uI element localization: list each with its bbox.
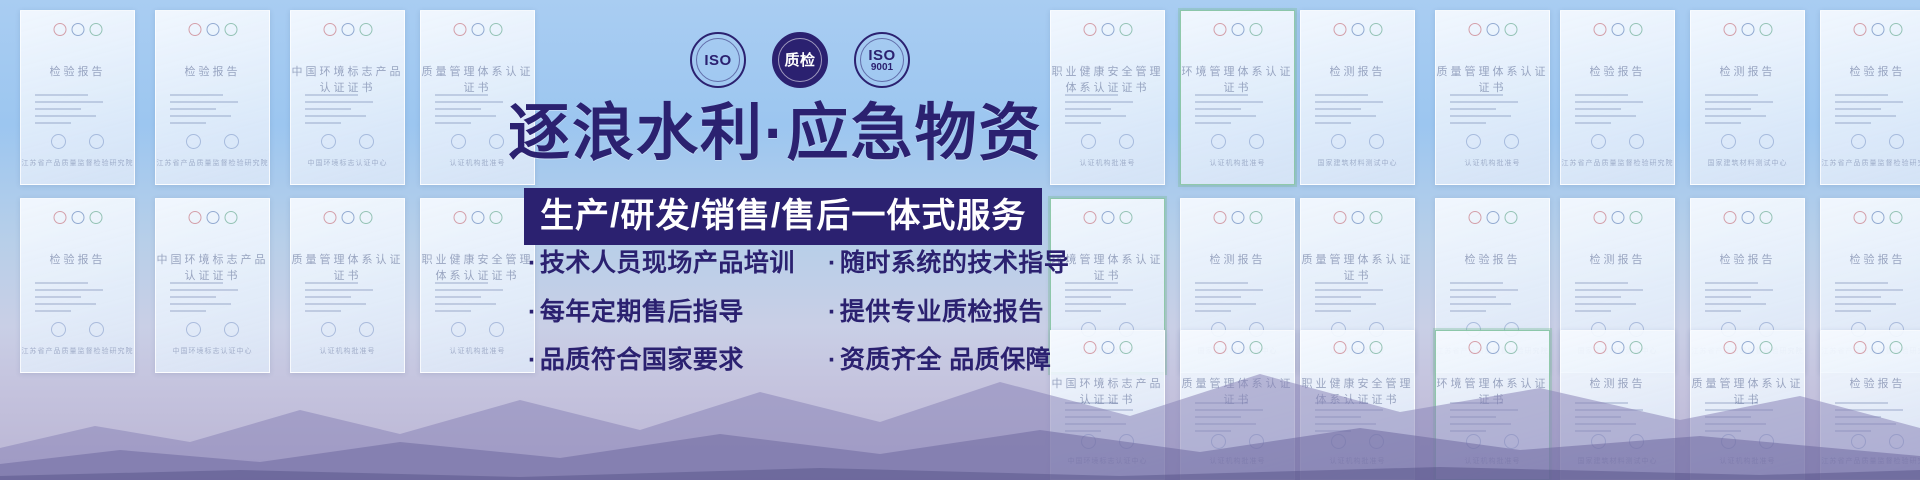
feature-list: ·技术人员现场产品培训·随时系统的技术指导·每年定期售后指导·提供专业质检报告·…: [528, 250, 1069, 375]
feature-item: ·品质符合国家要求: [528, 347, 806, 375]
bullet-dot-icon: ·: [528, 250, 537, 278]
bullet-dot-icon: ·: [528, 347, 537, 375]
feature-item: ·随时系统的技术指导: [828, 250, 1069, 278]
feature-item-label: 品质符合国家要求: [540, 347, 744, 375]
promo-banner: 检验报告江苏省产品质量监督检验研究院检验报告江苏省产品质量监督检验研究院中国环境…: [0, 0, 1920, 480]
feature-item-label: 资质齐全 品质保障: [840, 347, 1051, 375]
feature-item: ·提供专业质检报告: [828, 299, 1069, 327]
feature-item-label: 技术人员现场产品培训: [540, 250, 795, 278]
feature-item: ·每年定期售后指导: [528, 299, 806, 327]
bullet-dot-icon: ·: [528, 299, 537, 327]
bullet-dot-icon: ·: [828, 250, 837, 278]
feature-item: ·技术人员现场产品培训: [528, 250, 806, 278]
feature-item-label: 每年定期售后指导: [540, 299, 744, 327]
bullet-dot-icon: ·: [828, 299, 837, 327]
bullet-dot-icon: ·: [828, 347, 837, 375]
feature-item: ·资质齐全 品质保障: [828, 347, 1069, 375]
feature-item-label: 提供专业质检报告: [840, 299, 1044, 327]
subtitle-bar: 生产/研发/销售/售后一体式服务: [524, 188, 1042, 245]
feature-item-label: 随时系统的技术指导: [840, 250, 1070, 278]
page-title: 逐浪水利·应急物资: [508, 103, 1043, 165]
